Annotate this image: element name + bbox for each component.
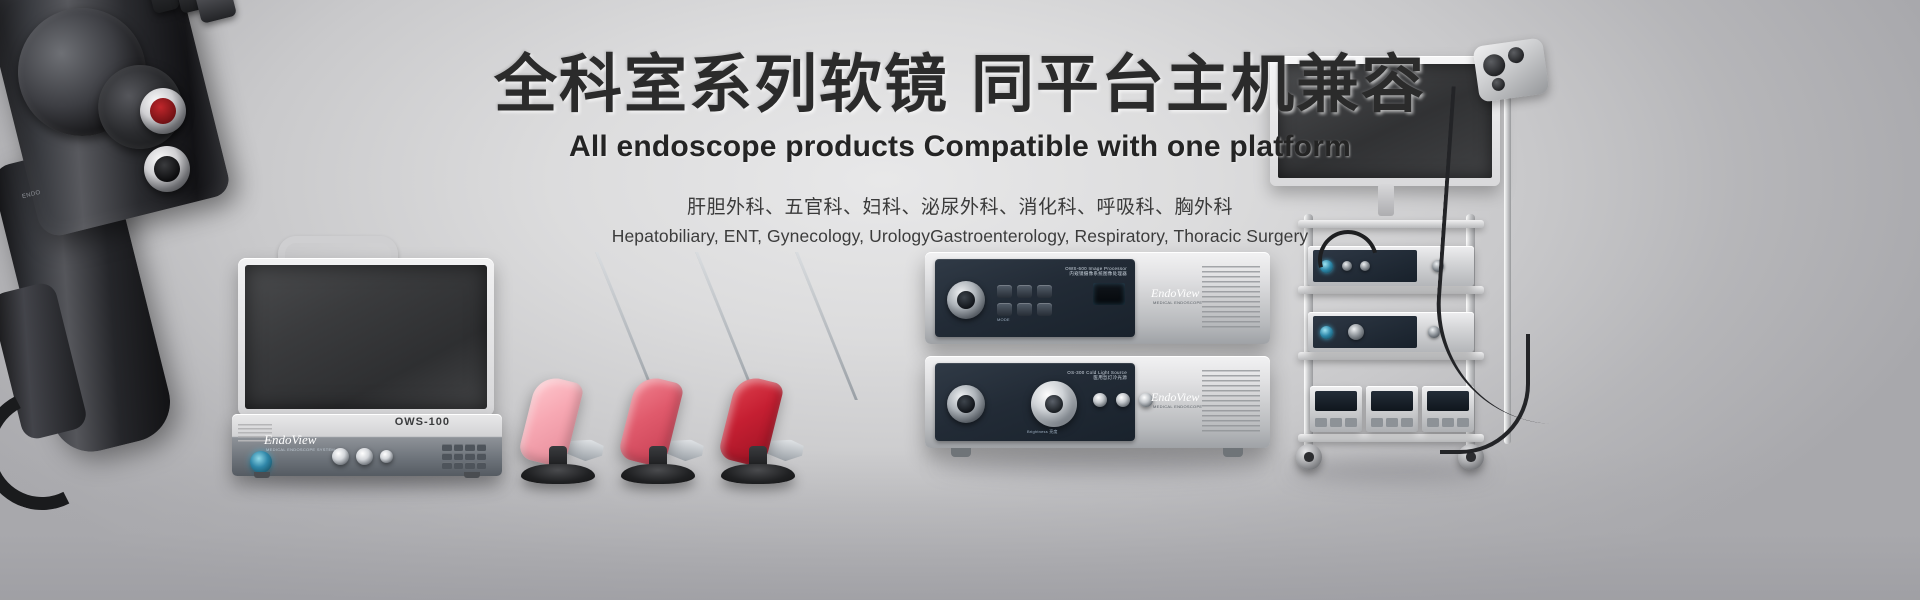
image-processor-display bbox=[1093, 283, 1125, 305]
endoscope-button-pad bbox=[195, 0, 237, 24]
forceps-stand-base bbox=[521, 464, 595, 484]
departments-cn: 肝胆外科、五官科、妇科、泌尿外科、消化科、呼吸科、胸外科 bbox=[0, 192, 1920, 219]
light-source-brand: EndoView bbox=[1151, 390, 1199, 405]
forceps-shaft bbox=[681, 252, 857, 400]
product-banner: 全科室系列软镜同平台主机兼容 All endoscope products Co… bbox=[0, 0, 1920, 600]
page-subtitle-en: All endoscope products Compatible with o… bbox=[0, 130, 1920, 164]
image-processor-scope-port bbox=[947, 281, 985, 319]
light-source-button-row[interactable] bbox=[1093, 393, 1153, 407]
image-processor-title-cn: 内窥镜摄像系统图像处理器 bbox=[1065, 271, 1127, 277]
image-processor-brand: EndoView bbox=[1151, 286, 1199, 301]
image-processor-button-grid[interactable] bbox=[997, 285, 1052, 316]
ows-model-label: OWS-100 bbox=[395, 416, 450, 428]
light-source-scope-port bbox=[947, 385, 985, 423]
ows-knob-2[interactable] bbox=[356, 448, 373, 465]
forceps-red bbox=[705, 252, 855, 482]
forceps-stand-base bbox=[621, 464, 695, 484]
ows-knob-1[interactable] bbox=[332, 448, 349, 465]
cart-caster-left bbox=[1296, 444, 1322, 470]
cart-box-2-display bbox=[1371, 391, 1413, 411]
image-processor-panel-title: OWS-600 Image Processor 内窥镜摄像系统图像处理器 bbox=[1065, 266, 1127, 277]
image-processor-mode-label: MODE bbox=[997, 317, 1010, 322]
title-cn-part1: 全科室系列软镜 bbox=[494, 50, 949, 120]
cart-box-1-display bbox=[1315, 391, 1357, 411]
stack-foot-left bbox=[951, 448, 971, 457]
processor-stack: OWS-600 Image Processor 内窥镜摄像系统图像处理器 MOD… bbox=[925, 252, 1270, 467]
image-processor-front-panel: OWS-600 Image Processor 内窥镜摄像系统图像处理器 MOD… bbox=[935, 259, 1135, 337]
light-source-vents bbox=[1202, 370, 1260, 432]
light-source-front-panel: OS-300 Cold Light Source 医用氙灯冷光源 Brightn… bbox=[935, 363, 1135, 441]
cart-light-source-port bbox=[1320, 326, 1333, 339]
cart-light-source-knob[interactable] bbox=[1348, 324, 1364, 340]
image-processor-brand-sub: MEDICAL ENDOSCOPE bbox=[1153, 300, 1202, 305]
ows-knob-3[interactable] bbox=[380, 450, 393, 463]
cart-box-1-buttons[interactable] bbox=[1315, 418, 1357, 427]
page-title: 全科室系列软镜同平台主机兼容 bbox=[0, 48, 1920, 122]
image-processor-unit: OWS-600 Image Processor 内窥镜摄像系统图像处理器 MOD… bbox=[925, 252, 1270, 344]
light-source-knob-label: Brightness 亮度 bbox=[1027, 429, 1058, 435]
light-source-title-cn: 医用氙灯冷光源 bbox=[1067, 375, 1127, 381]
light-source-brightness-knob[interactable] bbox=[1031, 381, 1077, 427]
stack-foot-right bbox=[1223, 448, 1243, 457]
ows-foot-right bbox=[464, 472, 480, 478]
cart-scope-tube-lower bbox=[1440, 334, 1530, 454]
light-source-brand-sub: MEDICAL ENDOSCOPE bbox=[1153, 404, 1202, 409]
cold-light-source-unit: OS-300 Cold Light Source 医用氙灯冷光源 Brightn… bbox=[925, 356, 1270, 448]
forceps-stand-base bbox=[721, 464, 795, 484]
image-processor-vents bbox=[1202, 266, 1260, 328]
cart-box-2-buttons[interactable] bbox=[1371, 418, 1413, 427]
cart-accessory-box-2 bbox=[1366, 386, 1418, 432]
cart-accessory-box-1 bbox=[1310, 386, 1362, 432]
light-source-panel-title: OS-300 Cold Light Source 医用氙灯冷光源 bbox=[1067, 370, 1127, 381]
headline-block: 全科室系列软镜同平台主机兼容 All endoscope products Co… bbox=[0, 48, 1920, 247]
departments-en: Hepatobiliary, ENT, Gynecology, UrologyG… bbox=[0, 226, 1920, 247]
ows-keypad[interactable] bbox=[442, 444, 486, 470]
title-cn-part2: 同平台主机兼容 bbox=[971, 50, 1426, 120]
